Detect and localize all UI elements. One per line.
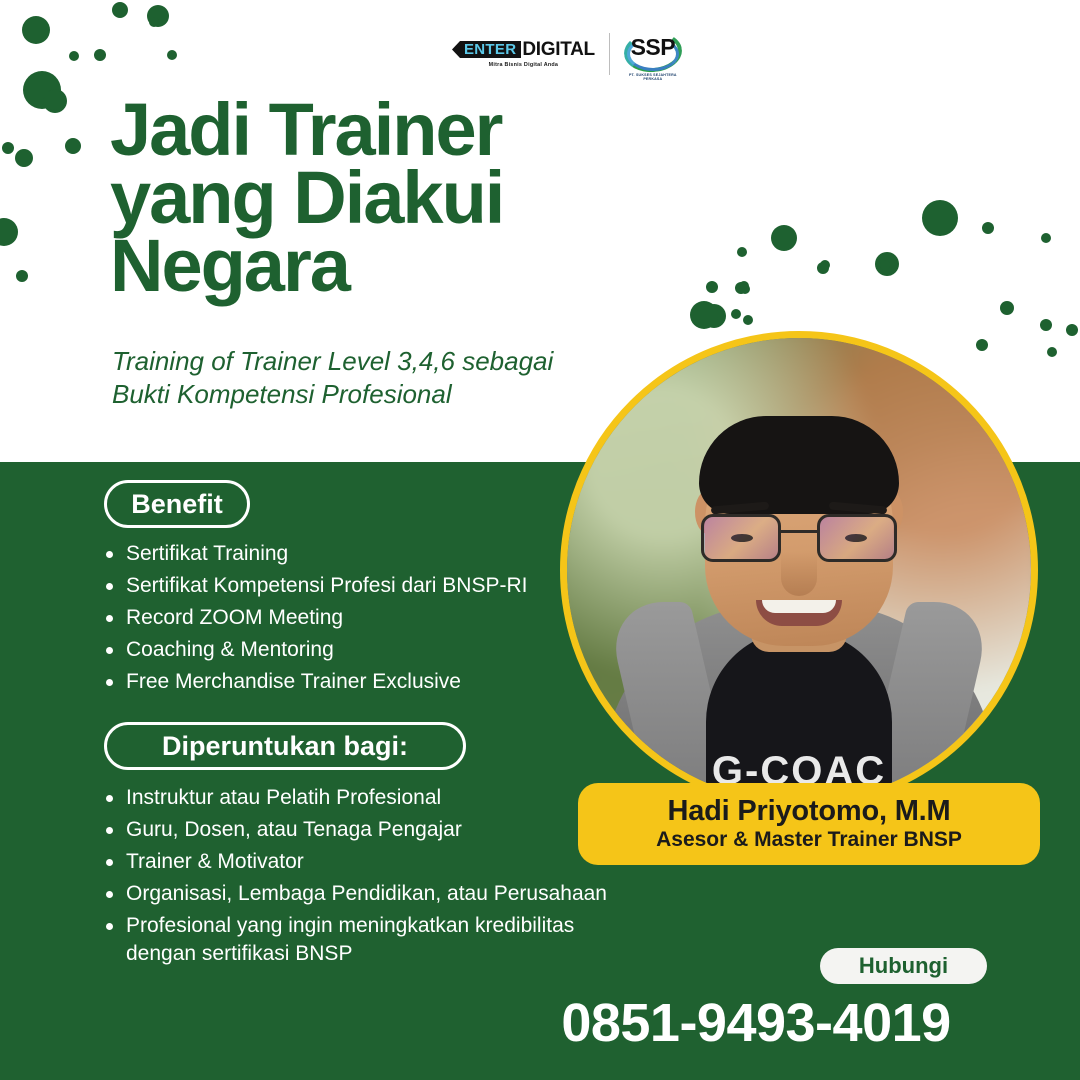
glasses-bridge [781, 530, 817, 533]
benefit-section-pill: Benefit [104, 480, 250, 528]
contact-phone-number[interactable]: 0851-9493-4019 [512, 992, 1000, 1054]
subtitle-line-1: Training of Trainer Level 3,4,6 sebagai [112, 345, 672, 378]
poster-root: ENTER DIGITAL Mitra Bisnis Digital Anda … [0, 0, 1080, 1080]
decor-dot [149, 17, 159, 27]
decor-dot [167, 50, 177, 60]
enter-digital-logo: ENTER DIGITAL Mitra Bisnis Digital Anda [452, 40, 595, 68]
speaker-role: Asesor & Master Trainer BNSP [656, 827, 962, 852]
list-item: Sertifikat Training [98, 540, 568, 568]
logo-row: ENTER DIGITAL Mitra Bisnis Digital Anda … [452, 28, 682, 80]
headline-line-2: yang Diakui [110, 164, 710, 232]
speaker-name-badge: Hadi Priyotomo, M.M Asesor & Master Trai… [578, 783, 1040, 865]
headline-line-1: Jadi Trainer [110, 96, 710, 164]
ssp-logo: SSP PT. SUKSES SEJAHTERA PERKASA [624, 28, 682, 80]
list-item: Free Merchandise Trainer Exclusive [98, 668, 568, 696]
decor-dot [737, 247, 747, 257]
benefit-list: Sertifikat TrainingSertifikat Kompetensi… [98, 540, 568, 700]
decor-dot [731, 309, 741, 319]
list-item: Trainer & Motivator [98, 848, 638, 876]
decor-dot [690, 301, 718, 329]
decor-dot [69, 51, 79, 61]
list-item: Record ZOOM Meeting [98, 604, 568, 632]
speaker-nose [781, 552, 817, 596]
enter-digital-word: DIGITAL [522, 40, 594, 59]
logo-divider [609, 33, 610, 75]
glasses-lens-right [817, 514, 897, 562]
glasses-lens-left [701, 514, 781, 562]
list-item: Guru, Dosen, atau Tenaga Pengajar [98, 816, 638, 844]
speaker-mouth [756, 600, 842, 626]
decor-dot [1047, 347, 1057, 357]
decor-dot [982, 222, 994, 234]
decor-dot [880, 260, 890, 270]
enter-badge-text: ENTER [452, 41, 521, 58]
page-subtitle: Training of Trainer Level 3,4,6 sebagai … [112, 345, 672, 411]
decor-dot [1041, 233, 1051, 243]
list-item: Coaching & Mentoring [98, 636, 568, 664]
list-item: Profesional yang ingin meningkatkan kred… [98, 912, 638, 968]
speaker-hair [699, 416, 899, 514]
decor-dot [820, 260, 830, 270]
decor-dot [1066, 324, 1078, 336]
decor-dot [16, 270, 28, 282]
speaker-name: Hadi Priyotomo, M.M [668, 796, 951, 827]
decor-dot [15, 149, 33, 167]
decor-dot [22, 16, 50, 44]
subtitle-line-2: Bukti Kompetensi Profesional [112, 378, 672, 411]
enter-digital-tagline: Mitra Bisnis Digital Anda [489, 62, 559, 68]
decor-dot [922, 200, 958, 236]
decor-dot [94, 49, 106, 61]
ssp-logo-text: SSP [624, 34, 682, 61]
page-title: Jadi Trainer yang Diakui Negara [110, 96, 710, 300]
decor-dot [44, 90, 64, 110]
decor-dot [2, 142, 14, 154]
decor-dot [112, 2, 128, 18]
list-item: Organisasi, Lembaga Pendidikan, atau Per… [98, 880, 638, 908]
contact-pill[interactable]: Hubungi [820, 948, 987, 984]
decor-dot [1040, 319, 1052, 331]
decor-dot [1000, 301, 1014, 315]
audience-list: Instruktur atau Pelatih ProfesionalGuru,… [98, 784, 638, 972]
list-item: Sertifikat Kompetensi Profesi dari BNSP-… [98, 572, 568, 600]
enter-digital-wordmark: ENTER DIGITAL [452, 40, 595, 59]
decor-dot [740, 284, 750, 294]
list-item: Instruktur atau Pelatih Profesional [98, 784, 638, 812]
decor-dot [743, 315, 753, 325]
ssp-logo-subtext: PT. SUKSES SEJAHTERA PERKASA [624, 73, 682, 81]
speaker-teeth [762, 600, 836, 613]
decor-dot [65, 138, 81, 154]
headline-line-3: Negara [110, 232, 710, 300]
speaker-tshirt: G-COAC [706, 630, 892, 808]
audience-section-pill: Diperuntukan bagi: [104, 722, 466, 770]
decor-dot [771, 225, 797, 251]
